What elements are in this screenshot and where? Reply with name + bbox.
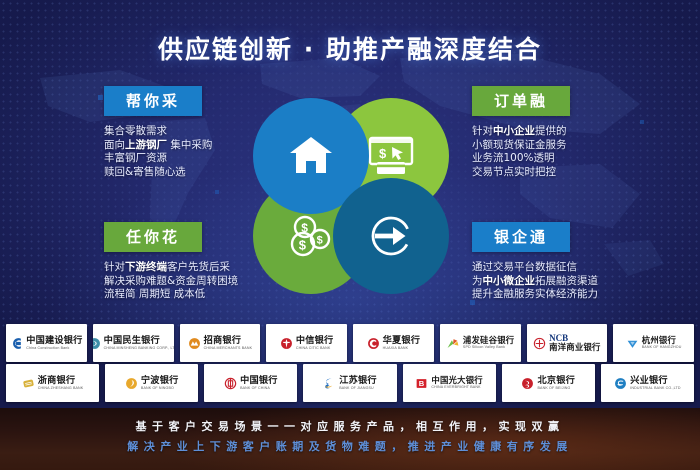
feature-line: 赎回&寄售随心选 [104, 166, 212, 180]
bank-label: 江苏银行 BANK OF JIANGSU [339, 376, 377, 390]
bank-logo-spd-svb[interactable]: 浦发硅谷银行 SPD Silicon Valley Bank [440, 324, 521, 362]
bottom-banner: 基于客户交易场景一一对应服务产品，相互作用，实现双赢 解决产业上下游客户账期及货… [0, 408, 700, 470]
bottom-line-1: 基于客户交易场景一一对应服务产品，相互作用，实现双赢 [0, 418, 700, 434]
bank-label: 中信银行 CHINA CITIC BANK [296, 336, 334, 350]
feature-block-spend-freely: 任你花 针对下游终端客户先货后采 解决采购难题&资金周转困境 流程简 周期短 成… [104, 222, 238, 302]
feature-line: 流程简 周期短 成本低 [104, 288, 238, 302]
accent-pixel [215, 190, 219, 194]
bank-house-icon [288, 135, 334, 177]
bank-logo-citic[interactable]: 中信银行 CHINA CITIC BANK [266, 324, 347, 362]
bank-logo-ncb[interactable]: NCB 南洋商业银行 [527, 324, 608, 362]
feature-line: 通过交易平台数据征信 [472, 261, 598, 275]
bank-name-en: BANK OF BEIJING [537, 387, 575, 391]
bank-label: 浙商银行 CHINA ZHESHANG BANK [38, 376, 84, 390]
feature-block-help-buy: 帮你采 集合零散需求 面向上游钢厂 集中采购 丰富钢厂资源 赎回&寄售随心选 [104, 86, 212, 179]
bank-label: 浦发硅谷银行 SPD Silicon Valley Bank [463, 336, 514, 350]
bank-label: 杭州银行 BANK OF HANGZHOU [642, 336, 682, 350]
accent-pixel [98, 95, 103, 100]
bank-name-cn: 华夏银行 [383, 336, 421, 345]
minsheng-icon [93, 337, 101, 350]
bank-name-en: China Construction Bank [26, 347, 82, 351]
bank-name-cn: 江苏银行 [339, 376, 377, 385]
feature-tag-help-buy: 帮你采 [104, 86, 202, 116]
bank-logo-cmb[interactable]: 招商银行 CHINA MERCHANTS BANK [180, 324, 261, 362]
feature-tag-bank-enterprise-link: 银企通 [472, 222, 570, 252]
bank-label: 中国建设银行 China Construction Bank [26, 336, 82, 350]
feature-line: 解决采购难题&资金周转困境 [104, 275, 238, 289]
feature-line: 为中小微企业拓展融资渠道 [472, 275, 598, 289]
bank-logo-row-2: 浙商银行 CHINA ZHESHANG BANK 宁波银行 BANK OF NI… [0, 364, 700, 402]
online-payment-card-icon: $ [368, 136, 414, 176]
bank-name-en: CHINA ZHESHANG BANK [38, 387, 84, 391]
svg-text:B: B [419, 379, 425, 388]
bank-name-cn: 宁波银行 [141, 376, 179, 385]
svg-text:$: $ [301, 221, 308, 235]
bank-name-cn: 兴业银行 [630, 376, 680, 385]
bank-name-cn: 中国银行 [240, 376, 278, 385]
bank-label: NCB 南洋商业银行 [549, 334, 600, 351]
feature-line: 小额现货保证金服务 [472, 139, 570, 153]
bank-name-cn: 浦发硅谷银行 [463, 336, 514, 344]
svg-text:$: $ [317, 235, 323, 247]
bank-logo-jiangsu[interactable]: 江苏银行 BANK OF JIANGSU [303, 364, 396, 402]
accent-pixel [640, 120, 644, 124]
bank-name-cn: 招商银行 [204, 336, 253, 345]
bank-name-en: BANK OF NINGBO [141, 387, 179, 391]
bank-label: 中国银行 BANK OF CHINA [240, 376, 278, 390]
bank-name-en: INDUSTRIAL BANK CO.,LTD [630, 387, 680, 391]
bank-label: 宁波银行 BANK OF NINGBO [141, 376, 179, 390]
partner-bank-logos: 中国建设银行 China Construction Bank 中国民生银行 CH… [0, 322, 700, 410]
bank-name-en: CHINA EVERBRIGHT BANK [431, 386, 482, 390]
bank-logo-ningbo[interactable]: 宁波银行 BANK OF NINGBO [105, 364, 198, 402]
bank-name-cn: 南洋商业银行 [549, 343, 600, 351]
coins-money-icon: $ $ $ [287, 214, 335, 258]
feature-line: 交易节点实时把控 [472, 166, 570, 180]
bank-name-en: SPD Silicon Valley Bank [463, 346, 514, 350]
nbbank-icon [125, 377, 138, 390]
bank-name-en: BANK OF HANGZHOU [642, 346, 682, 350]
bank-name-cn: 中国建设银行 [26, 336, 82, 345]
bank-logo-hangzhou[interactable]: 杭州银行 BANK OF HANGZHOU [613, 324, 694, 362]
bottom-line-2: 解决产业上下游客户账期及货物难题，推进产业健康有序发展 [0, 438, 700, 454]
bank-logo-row-1: 中国建设银行 China Construction Bank 中国民生银行 CH… [0, 324, 700, 362]
bank-name-cn: 中信银行 [296, 336, 334, 345]
feature-line: 集合零散需求 [104, 125, 212, 139]
bank-logo-beijing[interactable]: 北京银行 BANK OF BEIJING [502, 364, 595, 402]
citic-icon [280, 337, 293, 350]
bank-name-en: BANK OF JIANGSU [339, 387, 377, 391]
bank-name-en: CHINA MERCHANTS BANK [204, 347, 253, 351]
bank-logo-everbright[interactable]: B 中国光大银行 CHINA EVERBRIGHT BANK [403, 364, 496, 402]
bank-name-cn: 中国民生银行 [104, 336, 174, 345]
feature-tag-spend-freely: 任你花 [104, 222, 202, 252]
bank-logo-ccb[interactable]: 中国建设银行 China Construction Bank [6, 324, 87, 362]
feature-lines-order-financing: 针对中小企业提供的 小额现货保证金服务 业务流100%透明 交易节点实时把控 [472, 125, 570, 179]
feature-line: 丰富钢厂资源 [104, 152, 212, 166]
arrow-into-circle-icon [369, 214, 413, 258]
bank-logo-czbank[interactable]: 浙商银行 CHINA ZHESHANG BANK [6, 364, 99, 402]
cmb-icon [188, 337, 201, 350]
feature-block-bank-enterprise-link: 银企通 通过交易平台数据征信 为中小微企业拓展融资渠道 提升金融服务实体经济能力 [472, 222, 598, 302]
hzbank-icon [626, 337, 639, 350]
bank-label: 华夏银行 HUAXIA BANK [383, 336, 421, 350]
bank-name-cn: 中国光大银行 [431, 376, 482, 384]
ccb-icon [10, 337, 23, 350]
feature-lines-bank-enterprise-link: 通过交易平台数据征信 为中小微企业拓展融资渠道 提升金融服务实体经济能力 [472, 261, 598, 302]
bank-name-cn: 浙商银行 [38, 376, 84, 385]
bank-name-cn: 北京银行 [537, 376, 575, 385]
center-circle-cluster: $ $ $ $ [253, 98, 449, 294]
feature-line: 针对中小企业提供的 [472, 125, 570, 139]
bob-icon [521, 377, 534, 390]
bank-name-cn: 杭州银行 [642, 336, 682, 344]
bank-name-en: HUAXIA BANK [383, 347, 421, 351]
cib-icon [614, 377, 627, 390]
ncb-icon [533, 337, 546, 350]
poster-canvas: 供应链创新 · 助推产融深度结合 帮你采 集合零散需求 面向上游钢厂 集中采购 … [0, 0, 700, 470]
feature-lines-help-buy: 集合零散需求 面向上游钢厂 集中采购 丰富钢厂资源 赎回&寄售随心选 [104, 125, 212, 179]
circle-bank-enterprise-link [333, 178, 449, 294]
huaxia-icon [367, 337, 380, 350]
feature-lines-spend-freely: 针对下游终端客户先货后采 解决采购难题&资金周转困境 流程简 周期短 成本低 [104, 261, 238, 302]
bank-label: 北京银行 BANK OF BEIJING [537, 376, 575, 390]
czbank-icon [22, 377, 35, 390]
bank-logo-huaxia[interactable]: 华夏银行 HUAXIA BANK [353, 324, 434, 362]
bank-name-en: CHINA MINSHENG BANKING CORP., LTD. [104, 347, 174, 351]
svg-text:$: $ [379, 146, 387, 161]
feature-line: 业务流100%透明 [472, 152, 570, 166]
feature-block-order-financing: 订单融 针对中小企业提供的 小额现货保证金服务 业务流100%透明 交易节点实时… [472, 86, 570, 179]
svg-text:$: $ [299, 238, 307, 253]
bank-name-en: CHINA CITIC BANK [296, 347, 334, 351]
bank-logo-minsheng[interactable]: 中国民生银行 CHINA MINSHENG BANKING CORP., LTD… [93, 324, 174, 362]
bank-label: 兴业银行 INDUSTRIAL BANK CO.,LTD [630, 376, 680, 390]
bank-label: 中国光大银行 CHINA EVERBRIGHT BANK [431, 376, 482, 390]
feature-tag-order-financing: 订单融 [472, 86, 570, 116]
feature-line: 针对下游终端客户先货后采 [104, 261, 238, 275]
poster-title: 供应链创新 · 助推产融深度结合 [0, 30, 700, 66]
bank-label: 招商银行 CHINA MERCHANTS BANK [204, 336, 253, 350]
spd-svb-icon [446, 337, 460, 350]
boc-icon [224, 377, 237, 390]
feature-line: 面向上游钢厂 集中采购 [104, 139, 212, 153]
bank-logo-boc[interactable]: 中国银行 BANK OF CHINA [204, 364, 297, 402]
bank-logo-cib[interactable]: 兴业银行 INDUSTRIAL BANK CO.,LTD [601, 364, 694, 402]
bank-label: 中国民生银行 CHINA MINSHENG BANKING CORP., LTD… [104, 336, 174, 350]
feature-line: 提升金融服务实体经济能力 [472, 288, 598, 302]
bank-name-en: BANK OF CHINA [240, 387, 278, 391]
jsbank-icon [323, 377, 336, 390]
ceb-icon: B [415, 377, 428, 390]
